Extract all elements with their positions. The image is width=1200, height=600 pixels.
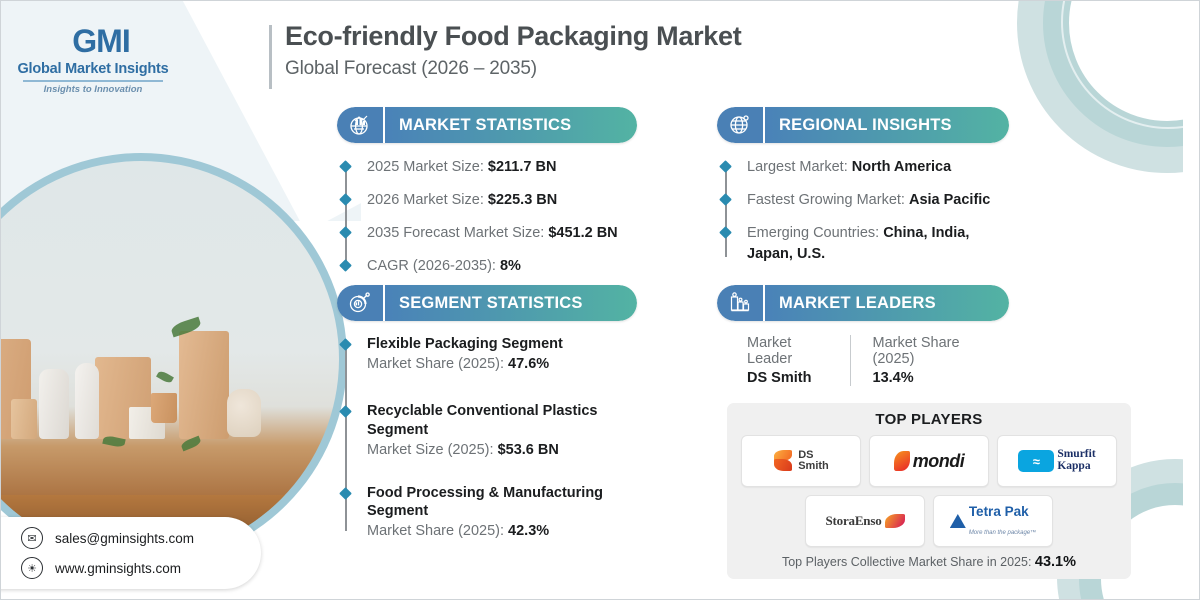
player-name-line1: Smurfit — [1057, 448, 1095, 460]
paper-bag-tall — [179, 331, 229, 439]
bullet-diamond-icon — [719, 160, 732, 173]
globe-pin-icon — [717, 107, 765, 143]
contact-website[interactable]: www.gminsights.com — [55, 561, 181, 576]
segment-metric-value: 42.3% — [508, 523, 549, 539]
contact-card: ✉ sales@gminsights.com ☀ www.gminsights.… — [0, 517, 261, 589]
player-name-line1: StoraEnso — [826, 513, 882, 529]
mesh-produce-bag — [227, 389, 261, 437]
player-name-line2: Smith — [798, 460, 829, 472]
stat-label: CAGR (2026-2035): — [367, 258, 500, 274]
list-item: Food Processing & Manufacturing Segment … — [367, 484, 637, 540]
globe-chart-icon — [337, 107, 385, 143]
market-leaders-title: MARKET LEADERS — [765, 285, 1009, 321]
market-statistics-list: 2025 Market Size: $211.7 BN 2026 Market … — [337, 157, 637, 277]
stora-enso-mark-icon — [885, 514, 905, 528]
region-label: Largest Market: — [747, 159, 852, 175]
market-share-value: 13.4% — [873, 370, 988, 386]
collective-share-value: 43.1% — [1035, 554, 1076, 570]
segment-statistics-list: Flexible Packaging Segment Market Share … — [337, 335, 637, 539]
region-label: Fastest Growing Market: — [747, 192, 909, 208]
market-statistics-header: MARKET STATISTICS — [337, 107, 637, 143]
segment-metric-label: Market Share (2025): — [367, 356, 508, 372]
top-players-footer: Top Players Collective Market Share in 2… — [739, 554, 1119, 570]
list-item: Largest Market: North America — [747, 157, 1009, 178]
bullet-diamond-icon — [339, 338, 352, 351]
envelope-icon: ✉ — [21, 527, 43, 549]
regional-insights-header: REGIONAL INSIGHTS — [717, 107, 1009, 143]
page-subtitle: Global Forecast (2026 – 2035) — [285, 58, 741, 80]
regional-insights-list: Largest Market: North America Fastest Gr… — [717, 157, 1009, 265]
mondi-mark-icon — [894, 451, 910, 471]
region-value: Asia Pacific — [909, 192, 990, 208]
player-name-line2: Kappa — [1057, 460, 1090, 472]
infographic-canvas: GMI Global Market Insights Insights to I… — [0, 0, 1200, 600]
region-value: North America — [852, 159, 951, 175]
page-title: Eco-friendly Food Packaging Market — [285, 21, 741, 52]
market-leader-label: Market Leader — [747, 335, 828, 367]
contact-email[interactable]: sales@gminsights.com — [55, 531, 194, 546]
glass-bottle — [39, 369, 69, 439]
segment-title: Flexible Packaging Segment — [367, 335, 637, 354]
contact-email-row[interactable]: ✉ sales@gminsights.com — [21, 527, 261, 549]
leaf-decor — [156, 370, 174, 385]
top-players-row-1: DS Smith mondi ≈ Smurfit Kappa — [739, 435, 1119, 487]
timeline-line — [725, 165, 727, 257]
kraft-jar — [11, 399, 37, 439]
tetra-pak-mark-icon — [950, 514, 966, 528]
region-label: Emerging Countries: — [747, 225, 883, 241]
right-edge-mask — [1183, 1, 1199, 600]
list-item: 2025 Market Size: $211.7 BN — [367, 157, 637, 178]
plastic-bottle — [75, 363, 99, 439]
contact-website-row[interactable]: ☀ www.gminsights.com — [21, 557, 261, 579]
section-market-statistics: MARKET STATISTICS 2025 Market Size: $211… — [337, 107, 637, 277]
timeline-line — [345, 343, 347, 531]
segment-metric-value: 47.6% — [508, 356, 549, 372]
stat-label: 2035 Forecast Market Size: — [367, 225, 548, 241]
player-logo-stora-enso[interactable]: StoraEnso — [805, 495, 925, 547]
donut-chart-icon — [337, 285, 385, 321]
smurfit-mark-icon: ≈ — [1018, 450, 1054, 472]
plant-pot — [151, 393, 177, 423]
section-segment-statistics: SEGMENT STATISTICS Flexible Packaging Se… — [337, 285, 637, 539]
stat-value: $451.2 BN — [548, 225, 617, 241]
list-item: CAGR (2026-2035): 8% — [367, 256, 637, 277]
market-share-label: Market Share (2025) — [873, 335, 988, 367]
timeline-line — [345, 165, 347, 269]
bullet-diamond-icon — [339, 405, 352, 418]
list-item: Emerging Countries: China, India, Japan,… — [747, 223, 1009, 265]
bullet-diamond-icon — [339, 160, 352, 173]
segment-metric-label: Market Size (2025): — [367, 442, 498, 458]
company-logo[interactable]: GMI Global Market Insights Insights to I… — [13, 23, 173, 95]
bullet-diamond-icon — [719, 226, 732, 239]
stat-value: $211.7 BN — [488, 159, 557, 175]
globe-icon: ☀ — [21, 557, 43, 579]
player-name-line1: mondi — [913, 451, 965, 472]
player-name-line2: More than the package™ — [969, 530, 1036, 536]
segment-statistics-header: SEGMENT STATISTICS — [337, 285, 637, 321]
ds-smith-mark-icon — [773, 450, 795, 472]
stat-value: $225.3 BN — [488, 192, 557, 208]
stat-label: 2025 Market Size: — [367, 159, 488, 175]
title-accent-bar — [269, 25, 272, 89]
market-share-column: Market Share (2025) 13.4% — [850, 335, 1010, 386]
player-logo-smurfit-kappa[interactable]: ≈ Smurfit Kappa — [997, 435, 1117, 487]
collective-share-label: Top Players Collective Market Share in 2… — [782, 555, 1035, 569]
logo-tagline: Insights to Innovation — [13, 84, 173, 95]
market-statistics-title: MARKET STATISTICS — [385, 107, 637, 143]
stat-value: 8% — [500, 258, 521, 274]
segment-metric-value: $53.6 BN — [498, 442, 559, 458]
player-logo-tetra-pak[interactable]: Tetra Pak More than the package™ — [933, 495, 1053, 547]
section-regional-insights: REGIONAL INSIGHTS Largest Market: North … — [717, 107, 1009, 265]
logo-mark: GMI — [13, 23, 173, 60]
list-item: Fastest Growing Market: Asia Pacific — [747, 190, 1009, 211]
player-logo-mondi[interactable]: mondi — [869, 435, 989, 487]
player-name-line1: DS — [798, 449, 813, 461]
podium-icon — [717, 285, 765, 321]
section-market-leaders: MARKET LEADERS Market Leader DS Smith Ma… — [717, 285, 1009, 386]
list-item: Flexible Packaging Segment Market Share … — [367, 335, 637, 372]
bullet-diamond-icon — [339, 226, 352, 239]
logo-initials: GMI — [72, 23, 129, 60]
bullet-diamond-icon — [339, 193, 352, 206]
logo-divider — [23, 80, 163, 82]
market-leaders-header: MARKET LEADERS — [717, 285, 1009, 321]
segment-title: Recyclable Conventional Plastics Segment — [367, 402, 635, 440]
market-leaders-body: Market Leader DS Smith Market Share (202… — [717, 335, 1009, 386]
list-item: 2035 Forecast Market Size: $451.2 BN — [367, 223, 637, 244]
market-leader-value: DS Smith — [747, 370, 828, 386]
top-players-row-2: StoraEnso Tetra Pak More than the packag… — [739, 495, 1119, 547]
bullet-diamond-icon — [339, 259, 352, 272]
player-logo-ds-smith[interactable]: DS Smith — [741, 435, 861, 487]
bullet-diamond-icon — [339, 487, 352, 500]
top-players-panel: TOP PLAYERS DS Smith mondi — [727, 403, 1131, 579]
segment-statistics-title: SEGMENT STATISTICS — [385, 285, 637, 321]
bullet-diamond-icon — [719, 193, 732, 206]
market-leader-column: Market Leader DS Smith — [747, 335, 850, 386]
list-item: 2026 Market Size: $225.3 BN — [367, 190, 637, 211]
stat-label: 2026 Market Size: — [367, 192, 488, 208]
regional-insights-title: REGIONAL INSIGHTS — [765, 107, 1009, 143]
segment-title: Food Processing & Manufacturing Segment — [367, 484, 637, 522]
logo-company-name: Global Market Insights — [13, 61, 173, 77]
segment-metric-label: Market Share (2025): — [367, 523, 508, 539]
page-title-block: Eco-friendly Food Packaging Market Globa… — [269, 21, 741, 80]
top-players-title: TOP PLAYERS — [739, 411, 1119, 428]
list-item: Recyclable Conventional Plastics Segment… — [367, 402, 637, 458]
packaging-photo — [0, 161, 339, 557]
player-name-line1: Tetra Pak — [969, 504, 1029, 519]
